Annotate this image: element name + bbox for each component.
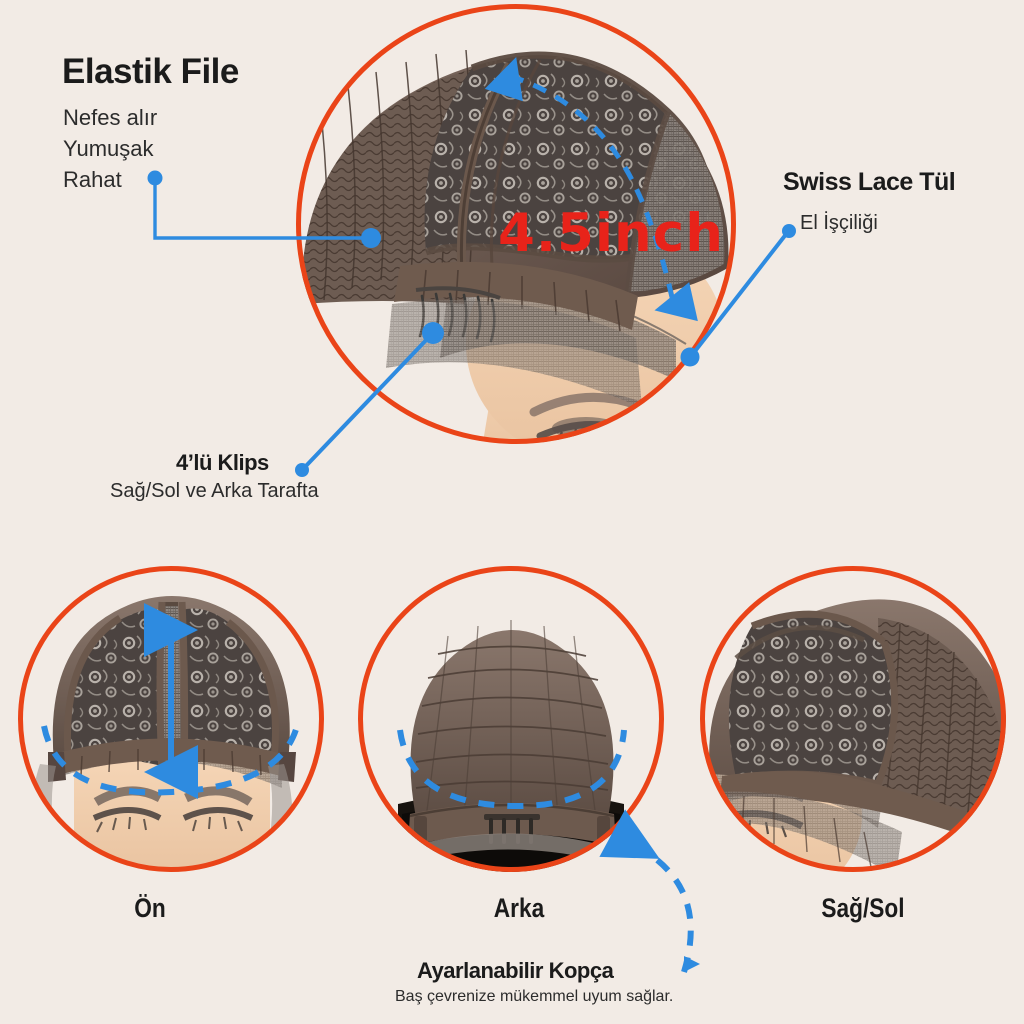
callout-swiss-title: Swiss Lace Tül — [783, 168, 955, 197]
leader-line-elastik — [140, 160, 400, 270]
callout-swiss-subtitle: El İşçiliği — [800, 212, 878, 235]
leader-line-kopca — [572, 800, 702, 980]
leader-dot — [681, 348, 700, 367]
leader-line-swiss — [676, 218, 806, 373]
leader-dot — [422, 322, 444, 344]
callout-kopca-subtitle: Baş çevrenize mükemmel uyum sağlar. — [395, 988, 673, 1006]
callout-klips-subtitle: Sağ/Sol ve Arka Tarafta — [110, 480, 319, 503]
wig-cap-side-view-photo — [700, 566, 1006, 872]
view-label-front: Ön — [66, 893, 234, 924]
leader-line-klips — [290, 320, 455, 485]
leader-dot — [361, 228, 381, 248]
front-view-measure-indicators — [18, 566, 324, 872]
callout-elastik-title: Elastik File — [62, 52, 239, 92]
view-label-side: Sağ/Sol — [779, 893, 947, 924]
leader-dot — [295, 463, 309, 477]
leader-dot — [782, 224, 796, 238]
infographic-canvas: 4.5inch Elastik File Nefes alır Yumuşak … — [0, 0, 1024, 1024]
callout-kopca-title: Ayarlanabilir Kopça — [417, 958, 613, 984]
callout-klips-title: 4’lü Klips — [176, 450, 269, 476]
head-circumference-curve — [400, 730, 624, 806]
wig-cap-side-illustration — [700, 566, 1006, 872]
arrow-icon — [684, 956, 700, 972]
leader-dot — [148, 171, 163, 186]
